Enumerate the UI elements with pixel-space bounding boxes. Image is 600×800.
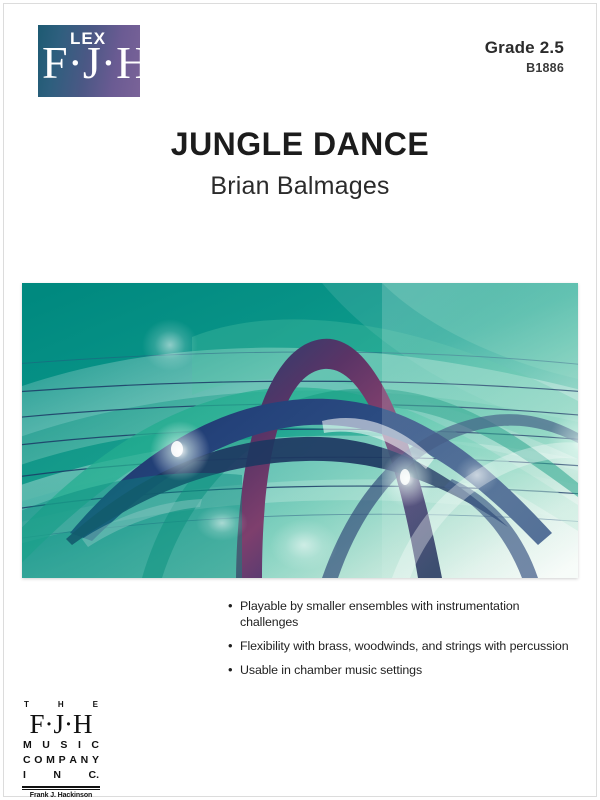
bullet-icon: • [228,598,240,614]
publisher-company-letter: P [59,753,66,768]
feature-text: Playable by smaller ensembles with instr… [240,598,578,630]
right-fade [382,283,578,578]
feature-text: Usable in chamber music settings [240,662,422,678]
publisher-inc-letter: C. [88,768,99,783]
publisher-company-letter: M [46,753,55,768]
publisher-rule-thin [22,789,100,790]
publisher-music-letter: C [91,738,99,753]
publisher-logo: T H E F·J·H M U S I C C O M P A N Y I N … [22,700,100,799]
publisher-company-letter: Y [92,753,99,768]
title-block: JUNGLE DANCE Brian Balmages [0,126,600,201]
flex-brand-logo: LEX F·J·H [38,25,140,97]
publisher-inc-letter: I [23,768,26,783]
publisher-music-letter: U [42,738,50,753]
publisher-company-row: C O M P A N Y [22,753,100,768]
list-item: • Playable by smaller ensembles with ins… [228,598,578,630]
publisher-music-row: M U S I C [22,738,100,753]
light-orb-core [171,441,183,457]
composer-name: Brian Balmages [0,172,600,201]
light-orb [142,319,198,371]
list-item: • Flexibility with brass, woodwinds, and… [228,638,578,654]
list-item: • Usable in chamber music settings [228,662,578,678]
bullet-icon: • [228,662,240,678]
publisher-the-letter: E [93,700,98,709]
light-orb [270,519,338,571]
abstract-wave-illustration [22,283,578,578]
publisher-inc-row: I N C. [22,768,100,783]
publisher-music-letter: I [78,738,81,753]
flex-logo-fjh-text: F·J·H [42,37,149,89]
publisher-the-letter: T [24,700,29,709]
page-title: JUNGLE DANCE [0,126,600,163]
publisher-company-letter: O [34,753,42,768]
publisher-music-letter: M [23,738,32,753]
feature-list: • Playable by smaller ensembles with ins… [228,598,578,686]
grade-label: Grade 2.5 [485,38,564,58]
grade-block: Grade 2.5 B1886 [485,38,564,75]
cover-artwork [22,283,578,578]
publisher-the-letter: H [58,700,64,709]
bullet-icon: • [228,638,240,654]
publisher-company-letter: A [69,753,77,768]
feature-text: Flexibility with brass, woodwinds, and s… [240,638,569,654]
publisher-music-letter: S [60,738,67,753]
publisher-company-letter: C [23,753,31,768]
sheet-music-cover: LEX F·J·H Grade 2.5 B1886 JUNGLE DANCE B… [0,0,600,800]
publisher-founder-name: Frank J. Hackinson [22,792,100,799]
light-orb [196,505,248,541]
publisher-inc-letter: N [53,768,61,783]
publisher-company-letter: N [81,753,89,768]
publisher-fjh-mark: F·J·H [22,710,100,738]
catalog-number: B1886 [485,61,564,75]
publisher-rule [22,786,100,788]
